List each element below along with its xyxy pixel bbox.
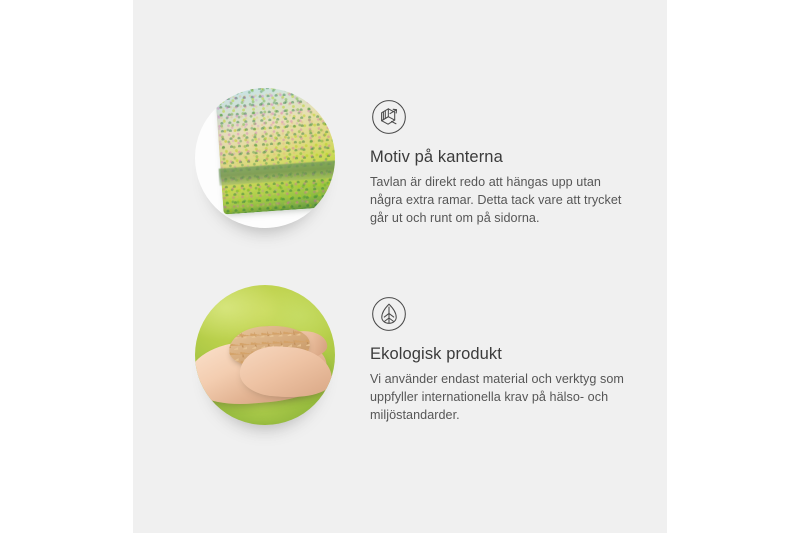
feature-image-edges	[195, 88, 335, 228]
hands-holding-wood-chips-photo	[195, 285, 335, 425]
feature-title-eco: Ekologisk produkt	[370, 344, 630, 365]
feature-title-edges: Motiv på kanterna	[370, 147, 630, 168]
leaf-icon	[370, 295, 408, 333]
feature-text-edges: Motiv på kanterna Tavlan är direkt redo …	[370, 98, 630, 228]
feature-block-edges: Motiv på kanterna Tavlan är direkt redo …	[133, 88, 630, 228]
feature-text-eco: Ekologisk produkt Vi använder endast mat…	[370, 295, 630, 425]
feature-image-eco	[195, 285, 335, 425]
feature-body-eco: Vi använder endast material och verktyg …	[370, 370, 630, 425]
feature-block-eco: Ekologisk produkt Vi använder endast mat…	[133, 285, 630, 425]
feature-body-edges: Tavlan är direkt redo att hängas upp uta…	[370, 173, 630, 228]
features-panel: Motiv på kanterna Tavlan är direkt redo …	[133, 0, 667, 533]
canvas-print-corner-photo	[195, 88, 335, 228]
canvas-wrapped-edges-icon	[370, 98, 408, 136]
canvas-print-face	[214, 88, 335, 214]
screenshot-root: Motiv på kanterna Tavlan är direkt redo …	[0, 0, 800, 533]
